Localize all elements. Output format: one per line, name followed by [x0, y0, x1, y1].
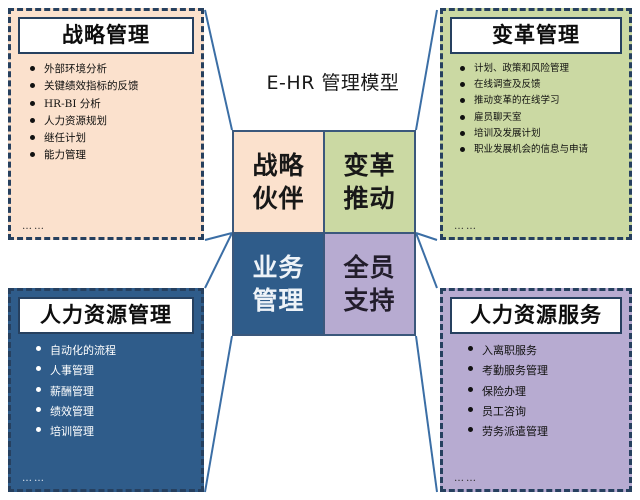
list-item-label: 雇员聊天室: [474, 110, 620, 125]
bullet-icon: [36, 346, 41, 351]
list-item: 绩效管理: [36, 402, 192, 421]
connector-hrm-top: [205, 233, 232, 288]
matrix-cell-line2: 管理: [252, 284, 304, 317]
bullet-icon: [468, 366, 473, 371]
connector-hrs-bottom: [416, 336, 437, 492]
page-title: E-HR 管理模型: [238, 68, 428, 95]
list-item-label: 入离职服务: [482, 341, 620, 360]
list-item: HR-BI 分析: [30, 96, 192, 112]
panel-hr-management-more: ……: [18, 471, 194, 484]
panel-change-management[interactable]: 变革管理 计划、政策和风险管理 在线调查及反馈 推动变革的在线学习 雇员聊天室 …: [440, 8, 632, 240]
list-item-label: 考勤服务管理: [482, 361, 620, 380]
panel-strategy-management[interactable]: 战略管理 外部环境分析 关键绩效指标的反馈 HR-BI 分析 人力资源规划 继任…: [8, 8, 204, 240]
list-item: 劳务派遣管理: [468, 422, 620, 441]
matrix-cell-line1: 业务: [252, 251, 304, 284]
panel-change-title: 变革管理: [450, 17, 622, 54]
list-item: 入离职服务: [468, 341, 620, 360]
bullet-icon: [36, 387, 41, 392]
list-item-label: 外部环境分析: [44, 61, 192, 77]
list-item: 关键绩效指标的反馈: [30, 78, 192, 94]
list-item-label: 薪酬管理: [50, 382, 192, 401]
list-item: 薪酬管理: [36, 382, 192, 401]
panel-hr-service-title: 人力资源服务: [450, 297, 622, 334]
list-item: 能力管理: [30, 147, 192, 163]
bullet-icon: [460, 66, 465, 71]
bullet-icon: [460, 82, 465, 87]
list-item: 员工咨询: [468, 402, 620, 421]
diagram-canvas: E-HR 管理模型 战略管理 外部环境分析 关键绩效指标的反馈 HR-BI 分析…: [0, 0, 640, 500]
list-item: 职业发展机会的信息与申请: [460, 142, 620, 157]
matrix-cell-line2: 支持: [343, 284, 395, 317]
bullet-icon: [468, 407, 473, 412]
list-item-label: 推动变革的在线学习: [474, 93, 620, 108]
list-item-label: 职业发展机会的信息与申请: [474, 142, 620, 157]
bullet-icon: [36, 427, 41, 432]
connector-hrm-bottom: [205, 336, 232, 492]
list-item: 保险办理: [468, 382, 620, 401]
panel-hr-service[interactable]: 人力资源服务 入离职服务 考勤服务管理 保险办理 员工咨询 劳务派遣管理 ……: [440, 288, 632, 492]
matrix-cell-line2: 推动: [343, 182, 395, 215]
matrix-cell-change-driver[interactable]: 变革 推动: [324, 131, 415, 233]
panel-change-more: ……: [450, 219, 622, 232]
panel-change-list: 计划、政策和风险管理 在线调查及反馈 推动变革的在线学习 雇员聊天室 培训及发展…: [450, 54, 622, 219]
bullet-icon: [30, 135, 35, 140]
list-item-label: 人事管理: [50, 361, 192, 380]
list-item-label: 关键绩效指标的反馈: [44, 78, 192, 94]
list-item-label: 计划、政策和风险管理: [474, 61, 620, 76]
list-item: 人力资源规划: [30, 113, 192, 129]
bullet-icon: [468, 346, 473, 351]
matrix-cell-line2: 伙伴: [252, 182, 304, 215]
bullet-icon: [468, 427, 473, 432]
panel-hr-service-list: 入离职服务 考勤服务管理 保险办理 员工咨询 劳务派遣管理: [450, 334, 622, 471]
panel-hr-service-more: ……: [450, 471, 622, 484]
connector-change-bottom: [416, 233, 437, 240]
panel-strategy-more: ……: [18, 219, 194, 232]
list-item: 雇员聊天室: [460, 110, 620, 125]
list-item: 在线调查及反馈: [460, 77, 620, 92]
bullet-icon: [36, 366, 41, 371]
matrix-cell-line1: 全员: [343, 251, 395, 284]
center-matrix: 战略 伙伴 变革 推动 业务 管理 全员 支持: [232, 130, 416, 336]
list-item: 培训及发展计划: [460, 126, 620, 141]
panel-strategy-title: 战略管理: [18, 17, 194, 54]
list-item: 推动变革的在线学习: [460, 93, 620, 108]
list-item: 考勤服务管理: [468, 361, 620, 380]
list-item: 培训管理: [36, 422, 192, 441]
list-item-label: HR-BI 分析: [44, 96, 192, 112]
list-item-label: 自动化的流程: [50, 341, 192, 360]
list-item-label: 人力资源规划: [44, 113, 192, 129]
bullet-icon: [468, 387, 473, 392]
matrix-cell-business-management[interactable]: 业务 管理: [233, 233, 324, 335]
list-item-label: 保险办理: [482, 382, 620, 401]
panel-hr-management[interactable]: 人力资源管理 自动化的流程 人事管理 薪酬管理 绩效管理 培训管理 ……: [8, 288, 204, 492]
bullet-icon: [30, 66, 35, 71]
panel-hr-management-list: 自动化的流程 人事管理 薪酬管理 绩效管理 培训管理: [18, 334, 194, 471]
matrix-cell-strategy-partner[interactable]: 战略 伙伴: [233, 131, 324, 233]
bullet-icon: [460, 98, 465, 103]
bullet-icon: [30, 152, 35, 157]
panel-strategy-list: 外部环境分析 关键绩效指标的反馈 HR-BI 分析 人力资源规划 继任计划 能力…: [18, 54, 194, 219]
list-item-label: 培训及发展计划: [474, 126, 620, 141]
list-item-label: 劳务派遣管理: [482, 422, 620, 441]
bullet-icon: [460, 131, 465, 136]
list-item: 继任计划: [30, 130, 192, 146]
list-item: 外部环境分析: [30, 61, 192, 77]
bullet-icon: [460, 115, 465, 120]
connector-hrs-top: [416, 233, 437, 288]
matrix-cell-line1: 战略: [252, 149, 304, 182]
list-item-label: 员工咨询: [482, 402, 620, 421]
bullet-icon: [30, 101, 35, 106]
matrix-cell-all-staff-support[interactable]: 全员 支持: [324, 233, 415, 335]
panel-hr-management-title: 人力资源管理: [18, 297, 194, 334]
list-item: 自动化的流程: [36, 341, 192, 360]
connector-strategy-bottom: [205, 233, 232, 240]
connector-strategy-top: [205, 10, 232, 130]
list-item: 人事管理: [36, 361, 192, 380]
bullet-icon: [36, 407, 41, 412]
bullet-icon: [30, 118, 35, 123]
list-item: 计划、政策和风险管理: [460, 61, 620, 76]
matrix-cell-line1: 变革: [343, 149, 395, 182]
bullet-icon: [30, 83, 35, 88]
list-item-label: 绩效管理: [50, 402, 192, 421]
bullet-icon: [460, 147, 465, 152]
list-item-label: 在线调查及反馈: [474, 77, 620, 92]
list-item-label: 继任计划: [44, 130, 192, 146]
list-item-label: 培训管理: [50, 422, 192, 441]
list-item-label: 能力管理: [44, 147, 192, 163]
